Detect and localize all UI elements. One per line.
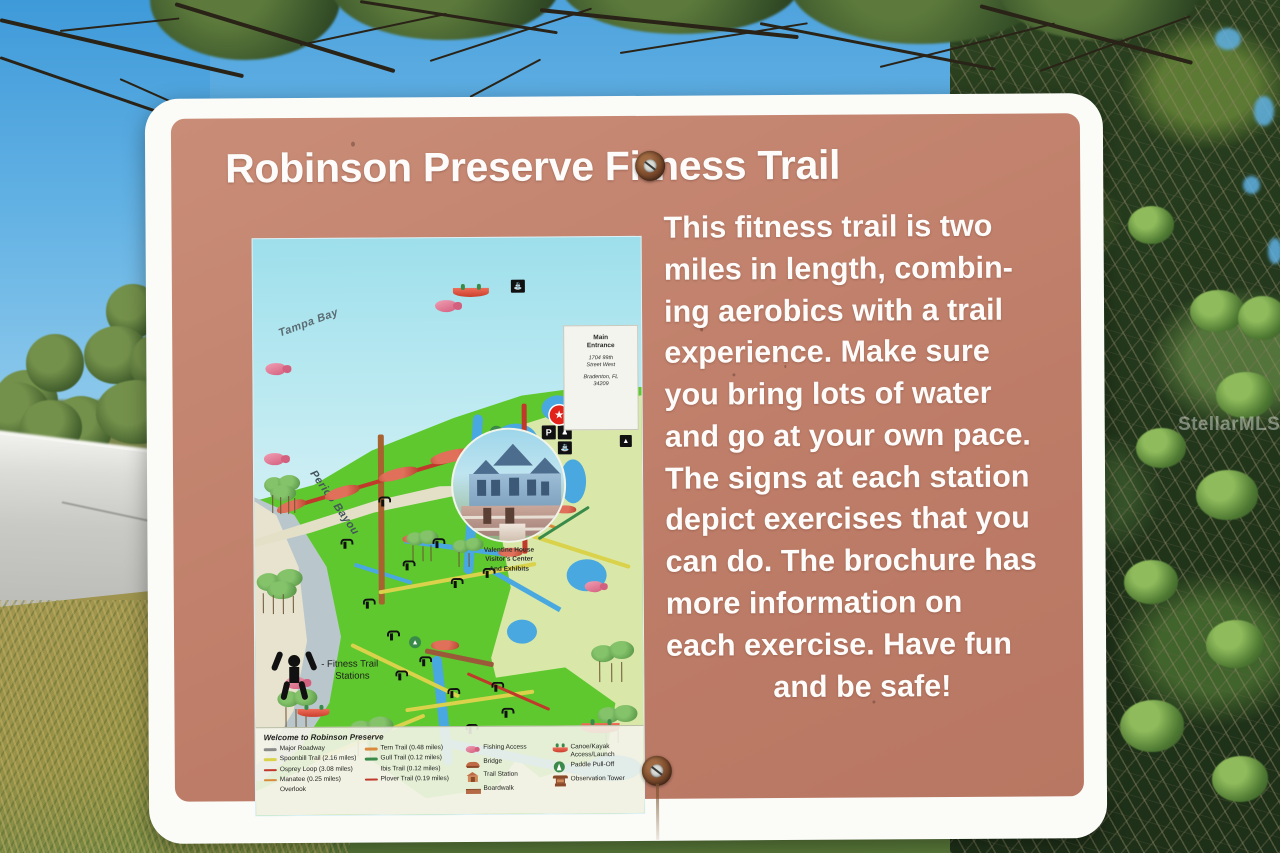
legend-item: Overlook	[264, 786, 361, 794]
parking-icon: P	[542, 425, 556, 439]
leaf-cluster-3	[1238, 296, 1280, 340]
legend-swatch	[264, 779, 277, 782]
legend-swatch	[264, 748, 277, 751]
fitness-key-line1: Fitness Trail	[327, 659, 378, 670]
leaf-cluster-2	[1190, 290, 1244, 332]
leaf-cluster-1	[1128, 206, 1174, 244]
legend-swatch	[264, 769, 277, 772]
legend-label: Osprey Loop (3.08 miles)	[280, 765, 353, 773]
legend-item: Paddle Pull-Off	[553, 761, 636, 773]
legend-label: Major Roadway	[280, 745, 325, 753]
valentine-house-photo	[451, 427, 567, 543]
bolt-rust-drip	[656, 784, 659, 840]
fitness-station-marker	[451, 578, 460, 591]
fishing-access-marker	[265, 363, 291, 375]
sky-gap-1	[1215, 28, 1241, 50]
leaf-cluster-9	[1120, 700, 1184, 752]
legend-item: Major Roadway	[264, 745, 361, 753]
fishing-access-marker	[585, 581, 609, 592]
legend-label: Spoonbill Trail (2.16 miles)	[280, 755, 357, 763]
legend-swatch	[365, 758, 378, 761]
mangrove-cluster-left-2	[255, 569, 311, 615]
body-line: depict exercises that you	[665, 498, 1057, 542]
legend-label: Tern Trail (0.48 miles)	[380, 744, 443, 752]
fitness-station-marker	[363, 599, 372, 612]
body-line: more information on	[666, 581, 1058, 625]
entrance-address-line2: Street West	[567, 362, 634, 369]
mounting-bolt-top	[635, 151, 665, 181]
valentine-house-caption: Valentine House Visitor's Center And Exh…	[436, 545, 581, 574]
body-line-last: and be safe!	[666, 665, 1058, 709]
legend-label: Boardwalk	[483, 784, 513, 792]
trail-sign: Robinson Preserve Fitness Trail	[145, 93, 1108, 844]
creek-pond-6	[507, 620, 537, 644]
paddle-pulloff-icon	[553, 761, 568, 772]
canoe-icon	[552, 743, 567, 754]
fitness-station-marker	[340, 539, 349, 552]
legend-label: Overlook	[280, 786, 306, 794]
sign-body-text: This fitness trail is two miles in lengt…	[663, 205, 1058, 709]
legend-label: Manatee (0.25 miles)	[280, 776, 341, 784]
picnic-area-icon: ⛲	[558, 441, 572, 454]
house-caption-line3: And Exhibits	[437, 564, 582, 574]
legend-item: Ibis Trail (0.12 miles)	[365, 765, 462, 773]
page-title: Robinson Preserve Fitness Trail	[225, 141, 985, 193]
legend-swatch	[365, 778, 378, 781]
legend-item: Boardwalk	[465, 784, 548, 796]
bridge-icon	[465, 757, 480, 768]
legend-swatch	[364, 748, 377, 751]
mangrove-cluster-right-1	[589, 641, 637, 685]
legend-item: Manatee (0.25 miles)	[264, 776, 361, 784]
fitness-station-marker	[501, 708, 510, 721]
legend-item: Osprey Loop (3.08 miles)	[264, 765, 361, 773]
picnic-icon: ⛲	[511, 280, 525, 293]
body-line: experience. Make sure	[664, 331, 1056, 375]
trail-marker-icon: ▲	[620, 435, 632, 447]
body-line: The signs at each station	[665, 456, 1057, 500]
leaf-cluster-6	[1196, 470, 1258, 520]
leaf-cluster-4	[1216, 372, 1274, 418]
legend-column-trails-1: Major Roadway Spoonbill Trail (2.16 mile…	[264, 745, 361, 797]
body-line: and go at your own pace.	[665, 414, 1057, 458]
legend-item: Fishing Access	[465, 743, 548, 755]
trail-station-icon	[465, 771, 480, 782]
fitness-station-marker	[447, 688, 456, 701]
boardwalk-icon	[465, 784, 480, 795]
shoreline-clump-9	[431, 640, 459, 650]
observation-tower-icon	[553, 775, 568, 786]
canoe-kayak-marker	[297, 705, 329, 717]
body-line: ing aerobics with a trail	[664, 289, 1056, 333]
fishing-access-marker	[435, 300, 463, 312]
fitness-station-marker	[491, 682, 500, 695]
legend-item: Tern Trail (0.48 miles)	[364, 744, 461, 752]
legend-label: Plover Trail (0.19 miles)	[381, 775, 449, 783]
legend-label: Canoe/Kayak Access/Launch	[570, 743, 635, 759]
fitness-station-marker	[378, 496, 387, 509]
entrance-title-line2: Entrance	[567, 342, 634, 351]
fish-icon	[465, 744, 480, 755]
legend-header: Welcome to Robinson Preserve	[264, 731, 636, 742]
fitness-key-dash: -	[321, 659, 324, 670]
mounting-bolt-bottom	[642, 756, 672, 786]
fitness-station-marker	[419, 656, 428, 669]
main-entrance-box: Main Entrance 1704 99th Street West Brad…	[563, 325, 639, 430]
leaf-cluster-7	[1124, 560, 1178, 604]
canoe-kayak-marker	[453, 284, 489, 297]
legend-item: Canoe/Kayak Access/Launch	[552, 743, 635, 759]
legend-label: Ibis Trail (0.12 miles)	[381, 765, 441, 773]
entrance-address-line4: 34209	[567, 381, 634, 388]
legend-item: Trail Station	[465, 770, 548, 782]
fitness-key-label: - Fitness Trail Stations	[321, 658, 407, 683]
fitness-station-marker	[387, 630, 396, 643]
legend-column-trails-2: Tern Trail (0.48 miles) Gull Trail (0.12…	[364, 744, 461, 796]
legend-item: Observation Tower	[553, 775, 636, 787]
legend-column-icons-1: Fishing Access Bridge	[465, 743, 549, 795]
fitness-figure-icon	[273, 647, 315, 699]
sky-gap-3	[1243, 176, 1260, 194]
legend-label: Trail Station	[483, 771, 518, 779]
legend-swatch	[264, 758, 277, 761]
legend-label: Gull Trail (0.12 miles)	[381, 754, 442, 762]
trail-major-roadway	[378, 434, 385, 604]
body-line: can do. The brochure has	[665, 540, 1057, 584]
body-line: each exercise. Have fun	[666, 623, 1058, 667]
legend-label: Bridge	[483, 757, 502, 765]
legend-label: Fishing Access	[483, 744, 526, 752]
mangrove-cluster-left-1	[262, 475, 306, 515]
fishing-access-marker	[264, 453, 290, 465]
preserve-map[interactable]: Tampa Bay Perico Bayou	[252, 236, 646, 816]
map-legend: Welcome to Robinson Preserve Major Roadw…	[256, 725, 645, 815]
legend-item: Plover Trail (0.19 miles)	[365, 775, 462, 783]
watermark: StellarMLS	[1178, 414, 1280, 436]
paddle-pulloff-icon: ▲	[409, 636, 421, 648]
legend-label: Paddle Pull-Off	[571, 761, 615, 769]
fitness-station-marker	[403, 560, 412, 573]
body-line: miles in length, combin-	[664, 247, 1056, 291]
body-line: This fitness trail is two	[663, 205, 1055, 249]
sky-gap-4	[1268, 238, 1280, 264]
legend-label: Observation Tower	[571, 775, 625, 783]
sign-panel: Robinson Preserve Fitness Trail	[171, 113, 1084, 802]
legend-item: Bridge	[465, 757, 548, 769]
body-line: you bring lots of water	[664, 372, 1056, 416]
sky-gap-2	[1254, 96, 1274, 126]
legend-item: Spoonbill Trail (2.16 miles)	[264, 755, 361, 763]
leaf-cluster-8	[1206, 620, 1264, 668]
fitness-key-line2: Stations	[321, 671, 369, 684]
legend-column-icons-2: Canoe/Kayak Access/Launch Paddle Pull-Of…	[552, 743, 636, 795]
legend-item: Gull Trail (0.12 miles)	[365, 754, 462, 762]
leaf-cluster-10	[1212, 756, 1268, 802]
